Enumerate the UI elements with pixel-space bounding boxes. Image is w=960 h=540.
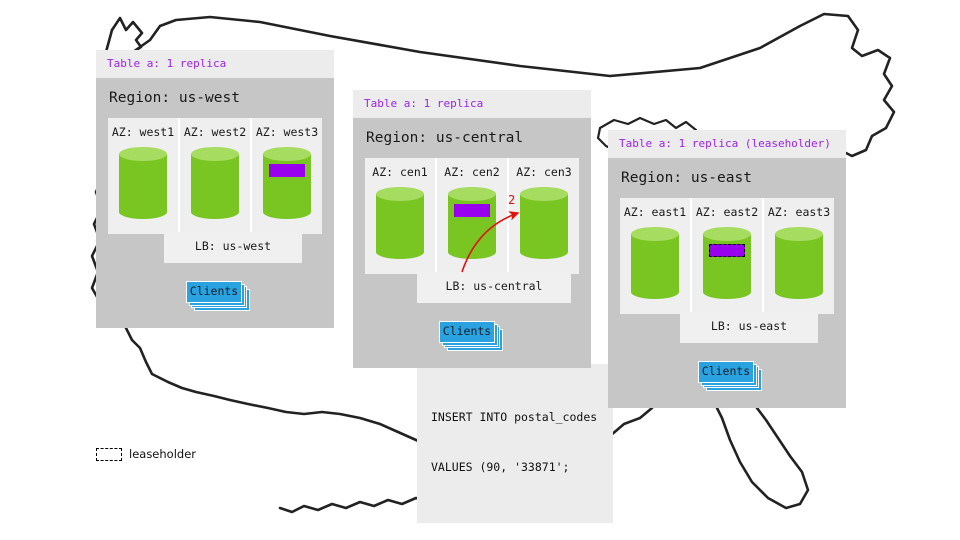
az-label-west2: AZ: west2: [180, 127, 250, 139]
node-cylinder-cen1[interactable]: [376, 187, 424, 259]
az-cell-east3[interactable]: AZ: east3: [764, 198, 834, 314]
region-panel-us-west: Table a: 1 replica Region: us-west AZ: w…: [96, 50, 334, 328]
panel-header-us-central: Table a: 1 replica: [353, 90, 591, 118]
node-cylinder-cen3[interactable]: [520, 187, 568, 259]
cylinder-body: [775, 234, 823, 292]
az-cell-west1[interactable]: AZ: west1: [108, 118, 180, 234]
table-replica-label-us-central: Table a: 1 replica: [364, 97, 483, 110]
az-cell-west2[interactable]: AZ: west2: [180, 118, 252, 234]
region-title-us-east: Region: us-east: [608, 158, 846, 198]
az-label-west3: AZ: west3: [252, 127, 322, 139]
replica-marker-west3: [269, 164, 305, 177]
az-cell-cen3[interactable]: AZ: cen3: [509, 158, 579, 274]
cylinder-body: [191, 154, 239, 212]
clients-button-us-east[interactable]: Clients: [698, 361, 762, 391]
diagram-canvas: INSERT INTO postal_codes VALUES (90, '33…: [0, 0, 960, 540]
routing-arrow-label: 2: [508, 194, 515, 206]
region-title-us-central: Region: us-central: [353, 118, 591, 158]
load-balancer-label-us-central: LB: us-central: [446, 279, 543, 293]
cylinder-top: [376, 187, 424, 201]
az-label-cen1: AZ: cen1: [365, 167, 435, 179]
clients-button-face-us-east[interactable]: Clients: [698, 361, 754, 383]
az-row-us-west: AZ: west1 AZ: west2 AZ: [108, 118, 322, 234]
cylinder-top: [703, 227, 751, 241]
node-cylinder-west3[interactable]: [263, 147, 311, 219]
cylinder-body: [119, 154, 167, 212]
panel-header-us-east: Table a: 1 replica (leaseholder): [608, 130, 846, 158]
region-panel-us-east: Table a: 1 replica (leaseholder) Region:…: [608, 130, 846, 408]
node-cylinder-east1[interactable]: [631, 227, 679, 299]
legend-label: leaseholder: [129, 449, 196, 461]
load-balancer-label-us-east: LB: us-east: [711, 319, 787, 333]
az-label-east1: AZ: east1: [620, 207, 690, 219]
cylinder-top: [448, 187, 496, 201]
sql-line-2: VALUES (90, '33871';: [431, 459, 599, 476]
cylinder-body: [631, 234, 679, 292]
az-row-us-central: AZ: cen1 AZ: cen2: [365, 158, 579, 274]
az-cell-east1[interactable]: AZ: east1: [620, 198, 692, 314]
region-title-us-west: Region: us-west: [96, 78, 334, 118]
node-cylinder-east2[interactable]: [703, 227, 751, 299]
az-label-cen3: AZ: cen3: [509, 167, 579, 179]
replica-marker-cen2: [454, 204, 490, 217]
replica-marker-east2-leaseholder: [709, 244, 745, 257]
cylinder-top: [191, 147, 239, 161]
cylinder-body: [376, 194, 424, 252]
panel-header-us-west: Table a: 1 replica: [96, 50, 334, 78]
cylinder-body: [263, 154, 311, 212]
cylinder-top: [775, 227, 823, 241]
clients-button-us-central[interactable]: Clients: [439, 321, 503, 351]
az-label-east3: AZ: east3: [764, 207, 834, 219]
load-balancer-us-east[interactable]: LB: us-east: [680, 312, 818, 343]
clients-label-us-east: Clients: [702, 366, 750, 378]
az-label-west1: AZ: west1: [108, 127, 178, 139]
az-cell-cen1[interactable]: AZ: cen1: [365, 158, 437, 274]
dashed-rect-icon: [96, 448, 122, 461]
clients-label-us-central: Clients: [443, 326, 491, 338]
az-label-east2: AZ: east2: [692, 207, 762, 219]
cylinder-body: [448, 194, 496, 252]
clients-button-us-west[interactable]: Clients: [186, 281, 250, 311]
cylinder-top: [263, 147, 311, 161]
load-balancer-us-west[interactable]: LB: us-west: [164, 232, 302, 263]
sql-line-1: INSERT INTO postal_codes: [431, 409, 599, 426]
table-replica-label-us-east: Table a: 1 replica (leaseholder): [619, 137, 831, 150]
clients-button-face-us-central[interactable]: Clients: [439, 321, 495, 343]
table-replica-label-us-west: Table a: 1 replica: [107, 57, 226, 70]
legend: leaseholder: [96, 448, 196, 461]
node-cylinder-west1[interactable]: [119, 147, 167, 219]
az-cell-west3[interactable]: AZ: west3: [252, 118, 322, 234]
clients-button-face-us-west[interactable]: Clients: [186, 281, 242, 303]
cylinder-body: [520, 194, 568, 252]
load-balancer-label-us-west: LB: us-west: [195, 239, 271, 253]
sql-statement-box: INSERT INTO postal_codes VALUES (90, '33…: [417, 364, 613, 523]
cylinder-top: [520, 187, 568, 201]
load-balancer-us-central[interactable]: LB: us-central: [417, 272, 571, 303]
node-cylinder-west2[interactable]: [191, 147, 239, 219]
az-row-us-east: AZ: east1 AZ: east2: [620, 198, 834, 314]
cylinder-top: [631, 227, 679, 241]
az-label-cen2: AZ: cen2: [437, 167, 507, 179]
cylinder-top: [119, 147, 167, 161]
az-cell-cen2[interactable]: AZ: cen2: [437, 158, 509, 274]
node-cylinder-east3[interactable]: [775, 227, 823, 299]
region-panel-us-central: Table a: 1 replica Region: us-central AZ…: [353, 90, 591, 368]
az-cell-east2[interactable]: AZ: east2: [692, 198, 764, 314]
cylinder-body: [703, 234, 751, 292]
node-cylinder-cen2[interactable]: [448, 187, 496, 259]
clients-label-us-west: Clients: [190, 286, 238, 298]
